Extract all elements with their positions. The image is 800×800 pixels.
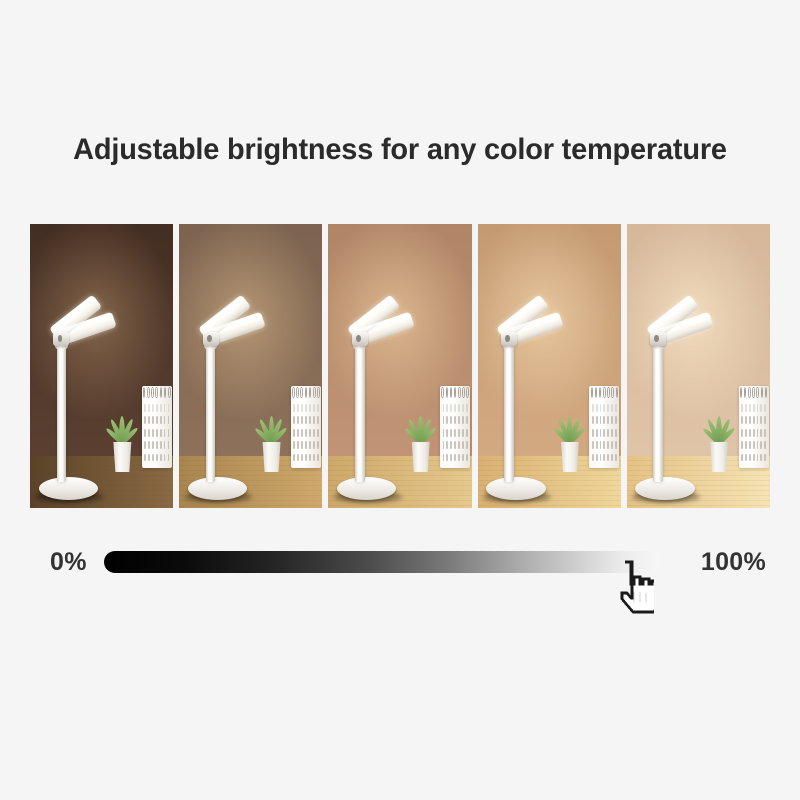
calendar-date-cell	[454, 454, 456, 462]
calendar-ring	[603, 387, 605, 399]
calendar-date-grid	[293, 404, 318, 462]
calendar-date-cell	[446, 441, 448, 449]
calendar-date-cell	[164, 429, 166, 437]
calendar-date-cell	[152, 429, 154, 437]
calendar-date-cell	[313, 404, 315, 412]
calendar-ring	[458, 387, 460, 399]
calendar-date-cell	[309, 441, 311, 449]
calendar-date-cell	[753, 454, 755, 462]
calendar-date-cell	[615, 416, 617, 424]
calendar-date-cell	[749, 404, 751, 412]
calendar-date-cell	[297, 429, 299, 437]
lamp-hinge-pivot	[505, 335, 510, 342]
calendar-ring	[151, 387, 153, 399]
calendar-date-cell	[305, 416, 307, 424]
calendar-date-cell	[458, 454, 460, 462]
calendar-ring	[155, 387, 157, 399]
calendar-date-cell	[749, 441, 751, 449]
calendar-ring	[462, 387, 464, 399]
calendar-date-cell	[454, 404, 456, 412]
calendar-date-cell	[297, 404, 299, 412]
calendar-date-cell	[615, 404, 617, 412]
calendar-date-cell	[301, 416, 303, 424]
calendar-date-cell	[317, 429, 319, 437]
calendar-ring	[616, 387, 618, 399]
calendar-date-cell	[615, 429, 617, 437]
calendar-date-cell	[297, 416, 299, 424]
calendar-ring	[450, 387, 452, 399]
calendar-date-cell	[305, 429, 307, 437]
calendar-date-cell	[611, 404, 613, 412]
calendar-date-cell	[603, 404, 605, 412]
calendar-date-cell	[611, 429, 613, 437]
calendar-date-cell	[600, 454, 602, 462]
brightness-panel-1	[30, 224, 173, 508]
calendar-date-cell	[596, 429, 598, 437]
calendar-date-cell	[454, 429, 456, 437]
calendar-date-cell	[305, 441, 307, 449]
calendar-date-cell	[615, 441, 617, 449]
calendar-date-cell	[454, 416, 456, 424]
calendar-date-cell	[764, 416, 766, 424]
calendar-ring	[454, 387, 456, 399]
calendar-date-cell	[603, 429, 605, 437]
calendar-ring	[599, 387, 601, 399]
calendar-ring	[168, 387, 170, 399]
calendar-date-cell	[446, 404, 448, 412]
calendar-date-cell	[760, 429, 762, 437]
calendar-date-cell	[454, 441, 456, 449]
calendar-date-grid	[443, 404, 468, 462]
calendar-date-cell	[305, 404, 307, 412]
calendar-date-cell	[600, 416, 602, 424]
calendar-date-cell	[607, 441, 609, 449]
calendar-ring	[748, 387, 750, 399]
hand-pointer-icon	[608, 556, 654, 614]
brightness-panel-5	[627, 224, 770, 508]
calendar-date-cell	[462, 404, 464, 412]
calendar-ring	[296, 387, 298, 399]
product-feature-graphic: Adjustable brightness for any color temp…	[0, 0, 800, 800]
calendar-date-cell	[757, 429, 759, 437]
calendar-date-cell	[317, 441, 319, 449]
calendar-date-cell	[160, 429, 162, 437]
calendar-date-cell	[148, 441, 150, 449]
calendar-date-cell	[757, 454, 759, 462]
calendar-date-cell	[313, 416, 315, 424]
calendar-date-cell	[611, 416, 613, 424]
lamp-arm	[206, 346, 216, 483]
calendar-date-cell	[450, 454, 452, 462]
calendar-ring	[305, 387, 307, 399]
desk-calendar	[291, 386, 321, 468]
page-title: Adjustable brightness for any color temp…	[14, 133, 786, 167]
calendar-date-cell	[753, 441, 755, 449]
calendar-ring	[761, 387, 763, 399]
calendar-date-cell	[745, 429, 747, 437]
calendar-date-cell	[168, 429, 170, 437]
lamp-base	[337, 477, 396, 500]
calendar-date-cell	[301, 454, 303, 462]
calendar-date-cell	[466, 441, 468, 449]
calendar-date-cell	[745, 441, 747, 449]
calendar-date-cell	[160, 404, 162, 412]
calendar-ring	[147, 387, 149, 399]
calendar-date-cell	[160, 441, 162, 449]
calendar-ring	[300, 387, 302, 399]
calendar-date-cell	[156, 441, 158, 449]
calendar-date-cell	[600, 441, 602, 449]
calendar-spiral	[292, 387, 320, 399]
calendar-date-cell	[317, 404, 319, 412]
calendar-date-cell	[764, 441, 766, 449]
calendar-date-cell	[446, 429, 448, 437]
desk-calendar	[739, 386, 769, 468]
calendar-date-cell	[148, 429, 150, 437]
desk-calendar	[142, 386, 172, 468]
calendar-ring	[752, 387, 754, 399]
calendar-date-cell	[297, 441, 299, 449]
calendar-date-cell	[462, 454, 464, 462]
desk-lamp	[337, 258, 443, 502]
calendar-date-cell	[615, 454, 617, 462]
lamp-hinge-pivot	[356, 335, 361, 342]
lamp-hinge-pivot	[207, 335, 212, 342]
calendar-date-cell	[466, 429, 468, 437]
desk-calendar	[440, 386, 470, 468]
lamp-base	[486, 477, 545, 500]
calendar-date-cell	[603, 454, 605, 462]
calendar-date-cell	[745, 416, 747, 424]
lamp-base	[39, 477, 98, 500]
calendar-date-cell	[745, 404, 747, 412]
calendar-date-cell	[156, 404, 158, 412]
calendar-ring	[446, 387, 448, 399]
calendar-date-cell	[305, 454, 307, 462]
desk-calendar	[589, 386, 619, 468]
calendar-date-cell	[309, 429, 311, 437]
calendar-ring	[164, 387, 166, 399]
brightness-slider[interactable]: 0% 100%	[30, 540, 770, 584]
calendar-date-cell	[603, 441, 605, 449]
calendar-date-cell	[301, 404, 303, 412]
calendar-date-cell	[152, 441, 154, 449]
calendar-ring	[607, 387, 609, 399]
calendar-ring	[309, 387, 311, 399]
desk-lamp	[188, 258, 294, 502]
lamp-arm	[504, 346, 514, 483]
desk-lamp	[486, 258, 592, 502]
calendar-date-cell	[168, 454, 170, 462]
calendar-date-cell	[760, 404, 762, 412]
calendar-date-cell	[164, 416, 166, 424]
desk-lamp	[635, 258, 741, 502]
calendar-date-cell	[462, 416, 464, 424]
calendar-date-cell	[164, 404, 166, 412]
brightness-panel-2	[179, 224, 322, 508]
calendar-date-cell	[596, 454, 598, 462]
calendar-date-cell	[753, 416, 755, 424]
calendar-date-cell	[462, 429, 464, 437]
lamp-arm	[355, 346, 365, 483]
calendar-date-cell	[764, 404, 766, 412]
calendar-date-cell	[745, 454, 747, 462]
calendar-spiral	[740, 387, 768, 399]
calendar-date-cell	[757, 416, 759, 424]
calendar-date-cell	[596, 404, 598, 412]
lamp-base	[188, 477, 247, 500]
calendar-ring	[756, 387, 758, 399]
desk-lamp	[39, 258, 145, 502]
calendar-ring	[160, 387, 162, 399]
calendar-date-cell	[317, 416, 319, 424]
calendar-date-cell	[309, 454, 311, 462]
calendar-date-cell	[450, 429, 452, 437]
calendar-date-cell	[148, 454, 150, 462]
calendar-date-cell	[156, 416, 158, 424]
calendar-ring	[466, 387, 468, 399]
calendar-date-cell	[164, 454, 166, 462]
calendar-date-cell	[446, 454, 448, 462]
calendar-date-cell	[164, 441, 166, 449]
slider-max-label: 100%	[701, 540, 766, 584]
calendar-date-cell	[317, 454, 319, 462]
lamp-base	[635, 477, 694, 500]
calendar-spiral	[591, 387, 619, 399]
brightness-panel-row	[30, 224, 770, 508]
calendar-date-cell	[168, 441, 170, 449]
calendar-date-cell	[148, 416, 150, 424]
lamp-arm	[653, 346, 663, 483]
calendar-date-cell	[301, 429, 303, 437]
calendar-date-cell	[156, 429, 158, 437]
calendar-date-cell	[760, 441, 762, 449]
calendar-date-cell	[450, 441, 452, 449]
calendar-date-cell	[458, 429, 460, 437]
calendar-date-cell	[611, 441, 613, 449]
calendar-date-cell	[760, 416, 762, 424]
calendar-date-cell	[168, 416, 170, 424]
calendar-ring	[744, 387, 746, 399]
calendar-date-cell	[168, 404, 170, 412]
calendar-date-cell	[607, 416, 609, 424]
calendar-spiral	[143, 387, 171, 399]
calendar-date-cell	[148, 404, 150, 412]
calendar-date-grid	[144, 404, 169, 462]
calendar-date-cell	[152, 454, 154, 462]
calendar-date-cell	[753, 429, 755, 437]
calendar-date-cell	[749, 416, 751, 424]
calendar-date-cell	[446, 416, 448, 424]
calendar-ring	[313, 387, 315, 399]
lamp-arm	[57, 346, 67, 483]
brightness-panel-4	[478, 224, 621, 508]
calendar-date-cell	[603, 416, 605, 424]
calendar-date-cell	[757, 441, 759, 449]
calendar-date-cell	[450, 404, 452, 412]
calendar-date-cell	[301, 441, 303, 449]
calendar-date-cell	[600, 429, 602, 437]
calendar-date-cell	[760, 454, 762, 462]
calendar-date-cell	[607, 454, 609, 462]
calendar-date-cell	[764, 429, 766, 437]
calendar-date-cell	[458, 416, 460, 424]
calendar-date-cell	[466, 416, 468, 424]
calendar-date-grid	[592, 404, 617, 462]
calendar-date-cell	[607, 429, 609, 437]
calendar-date-cell	[462, 441, 464, 449]
calendar-date-cell	[596, 441, 598, 449]
slider-min-label: 0%	[50, 540, 87, 584]
calendar-date-cell	[596, 416, 598, 424]
calendar-date-cell	[466, 454, 468, 462]
calendar-date-cell	[313, 429, 315, 437]
calendar-date-cell	[156, 454, 158, 462]
calendar-date-cell	[607, 404, 609, 412]
calendar-date-cell	[152, 416, 154, 424]
brightness-panel-3	[328, 224, 471, 508]
calendar-date-cell	[313, 441, 315, 449]
calendar-date-cell	[309, 404, 311, 412]
calendar-ring	[317, 387, 319, 399]
calendar-date-cell	[160, 416, 162, 424]
calendar-date-cell	[450, 416, 452, 424]
calendar-date-cell	[458, 441, 460, 449]
calendar-date-cell	[160, 454, 162, 462]
calendar-date-cell	[764, 454, 766, 462]
calendar-date-cell	[600, 404, 602, 412]
calendar-date-cell	[611, 454, 613, 462]
calendar-date-cell	[297, 454, 299, 462]
calendar-date-grid	[741, 404, 766, 462]
calendar-date-cell	[749, 429, 751, 437]
calendar-ring	[765, 387, 767, 399]
calendar-date-cell	[753, 404, 755, 412]
calendar-date-cell	[757, 404, 759, 412]
brightness-gradient-track[interactable]	[104, 551, 660, 573]
calendar-date-cell	[309, 416, 311, 424]
calendar-date-cell	[749, 454, 751, 462]
calendar-date-cell	[458, 404, 460, 412]
calendar-spiral	[441, 387, 469, 399]
calendar-date-cell	[152, 404, 154, 412]
calendar-ring	[595, 387, 597, 399]
calendar-ring	[611, 387, 613, 399]
calendar-date-cell	[466, 404, 468, 412]
calendar-date-cell	[313, 454, 315, 462]
